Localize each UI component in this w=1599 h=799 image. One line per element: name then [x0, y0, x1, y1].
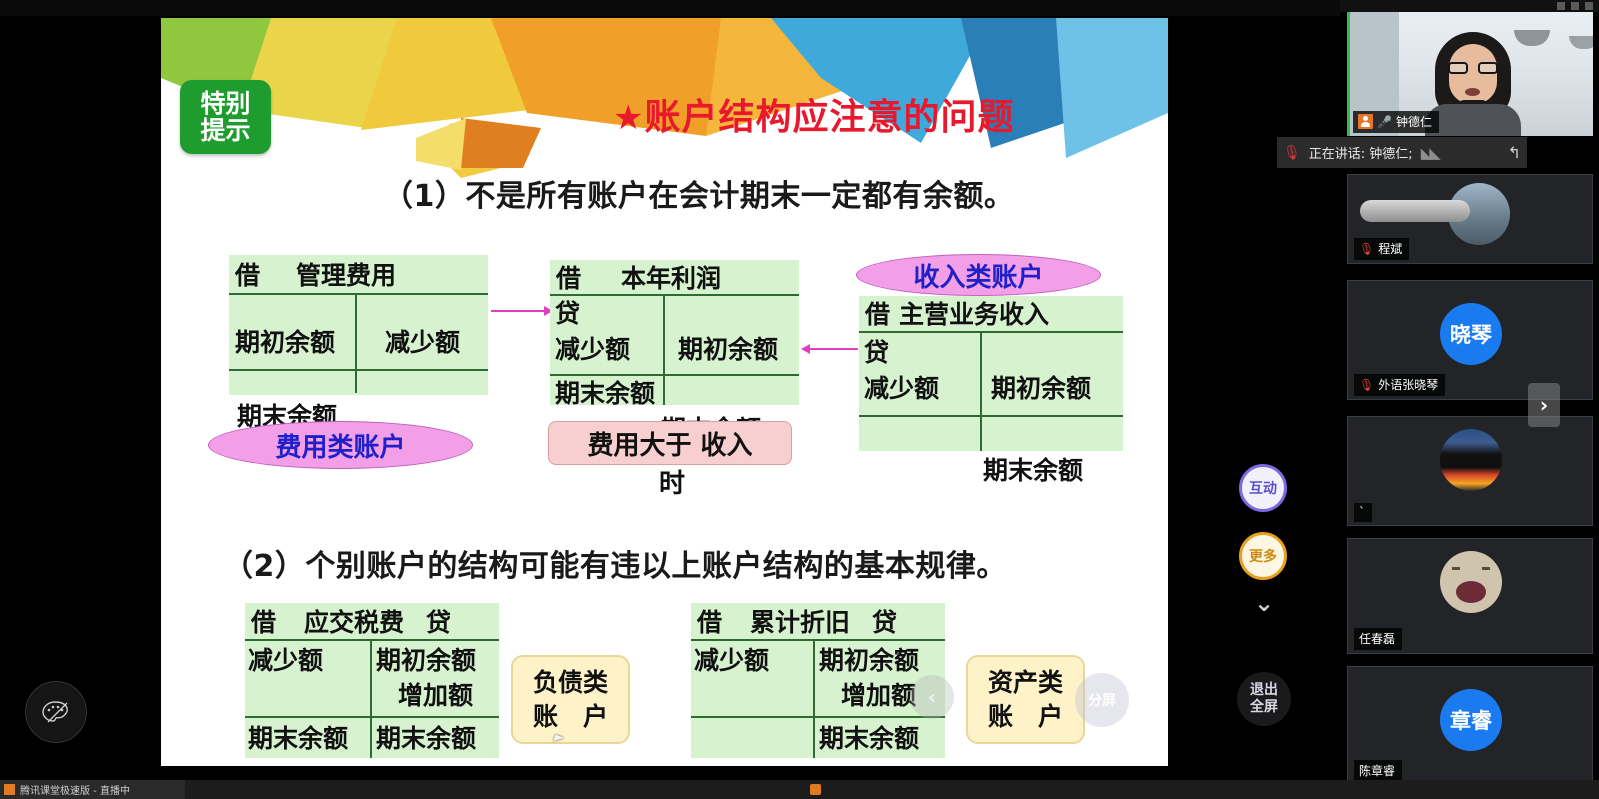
t5-body: 减少额 期初余额 增加额 期末余额 [691, 641, 945, 758]
t1-right-cell: 减少额 [385, 323, 460, 359]
asset-line-1: 资产类 [988, 666, 1063, 700]
exit-fullscreen-button[interactable]: 退出 全屏 [1237, 672, 1291, 726]
reply-arrow-icon[interactable]: ↰ [1508, 143, 1521, 162]
video-person [1425, 32, 1521, 136]
slide-title-text: 账户结构应注意的问题 [644, 97, 1014, 138]
t4-right-cell-1: 期初余额 [376, 641, 476, 677]
avatar-initials-2: 晓琴 [1450, 319, 1492, 349]
participant-tile-1[interactable]: 🎙 程斌 [1347, 174, 1593, 264]
callout-expense-gt-income: 费用大于 收入 [548, 421, 792, 465]
t2-header: 借 本年利润 [550, 260, 799, 296]
screen-root: 特别 提示 ★账户结构应注意的问题 （1）不是所有账户在会计期末一定都有余额。 … [0, 0, 1599, 799]
slide-title: ★账户结构应注意的问题 [613, 88, 1015, 140]
taskbar-app-label: 腾讯课堂极速版 - 直播中 [20, 782, 130, 797]
host-badge-icon [1358, 114, 1373, 129]
t3-ending-balance: 期末余额 [983, 451, 1083, 487]
participant-tile-2[interactable]: 晓琴 🎙 外语张晓琴 [1347, 280, 1593, 400]
participant-label-5: 陈章睿 [1359, 762, 1395, 779]
interact-button[interactable]: 互动 [1239, 464, 1287, 512]
t5-debit-label: 借 [697, 603, 722, 639]
t5-right-cell-2: 增加额 [841, 676, 916, 712]
t4-debit-label: 借 [251, 603, 276, 639]
t2-credit-mark: 贷 [555, 294, 580, 330]
participant-tile-0[interactable]: 🎤 钟德仁 [1347, 12, 1593, 136]
avatar-initials-5: 章睿 [1450, 705, 1492, 735]
more-button[interactable]: 更多 [1239, 532, 1287, 580]
participant-label-2: 外语张晓琴 [1378, 376, 1438, 393]
t2-left-total: 期末余额 [555, 374, 655, 410]
microphone-muted-icon: 🎙 [1359, 243, 1374, 255]
t-account-bennian-lirun: 借 本年利润 贷 减少额 期初余额 期末余额 [550, 260, 799, 405]
t4-credit-label: 贷 [426, 603, 451, 639]
minimize-icon[interactable] [1557, 2, 1565, 10]
chevron-down-icon[interactable]: ⌄ [1248, 590, 1280, 616]
callout-expense-accounts: 费用类账户 [208, 421, 473, 469]
participant-tile-3[interactable]: ` [1347, 416, 1593, 526]
t1-body: 期初余额 减少额 [229, 295, 488, 393]
callout-income-accounts: 收入类账户 [856, 254, 1101, 296]
avatar-overlay-bar [1360, 200, 1470, 222]
split-screen-button[interactable]: 分屏 [1075, 673, 1129, 727]
palette-icon[interactable] [25, 681, 87, 743]
t1-account-name: 管理费用 [296, 256, 396, 292]
t5-credit-label: 贷 [872, 603, 897, 639]
t-account-yingjiao-shuifei: 借 应交税费 贷 减少额 期初余额 增加额 期末余额 期末余额 [245, 603, 499, 758]
app-icon [4, 784, 15, 795]
participant-tile-5[interactable]: 章睿 陈章睿 [1347, 666, 1593, 786]
participant-avatar-5: 章睿 [1440, 689, 1502, 751]
t2-account-name: 本年利润 [621, 259, 721, 295]
t-account-zhuying-yewu-shouru: 借 主营业务收入 贷 减少额 期初余额 [859, 296, 1123, 451]
taskbar-app-item[interactable]: 腾讯课堂极速版 - 直播中 [0, 780, 185, 799]
participant-name-3: ` [1354, 503, 1372, 522]
t4-header: 借 应交税费 贷 [245, 603, 499, 641]
t5-header: 借 累计折旧 贷 [691, 603, 945, 641]
t4-left-total: 期末余额 [248, 719, 348, 755]
participant-name-2: 🎙 外语张晓琴 [1354, 374, 1445, 396]
t5-divider [813, 641, 815, 758]
exit-line-1: 退出 [1250, 682, 1278, 700]
t2-body: 贷 减少额 期初余额 期末余额 [550, 296, 799, 405]
taskbar-tray-icon[interactable] [810, 784, 821, 795]
speaking-status-label: 正在讲话: 钟德仁; [1309, 143, 1413, 162]
badge-line-1: 特别 [200, 90, 250, 117]
presentation-slide[interactable]: 特别 提示 ★账户结构应注意的问题 （1）不是所有账户在会计期末一定都有余额。 … [161, 18, 1168, 766]
t4-left-cell: 减少额 [248, 641, 323, 677]
special-tip-badge: 特别 提示 [180, 80, 271, 154]
t3-left-cell: 减少额 [864, 369, 939, 405]
microphone-muted-icon: 🎙 [1359, 379, 1374, 391]
participant-label-4: 任春磊 [1359, 630, 1395, 647]
statement-1: （1）不是所有账户在会计期末一定都有余额。 [383, 171, 1014, 215]
t3-right-cell: 期初余额 [991, 369, 1091, 405]
callout-liability-accounts: 负债类 账 户 [511, 655, 630, 744]
t4-divider [370, 641, 372, 758]
participant-label-0: 钟德仁 [1396, 113, 1432, 130]
top-strip [0, 0, 1340, 16]
participant-avatar-2: 晓琴 [1440, 303, 1502, 365]
t-account-leiji-zhejiu: 借 累计折旧 贷 减少额 期初余额 增加额 期末余额 [691, 603, 945, 758]
speaking-indicator-bar [1347, 12, 1350, 136]
microphone-icon: 🎤 [1377, 115, 1392, 129]
callout-expense-gt-income-tail: 时 [659, 463, 685, 500]
t1-left-cell: 期初余额 [235, 323, 335, 359]
arrow-1-line [491, 310, 546, 312]
arrow-2-line [806, 348, 858, 350]
exit-line-2: 全屏 [1250, 699, 1278, 717]
t1-header: 借 管理费用 [229, 255, 488, 295]
star-icon: ★ [613, 98, 644, 138]
t2-left-cell: 减少额 [555, 330, 630, 366]
t4-body: 减少额 期初余额 增加额 期末余额 期末余额 [245, 641, 499, 758]
asset-line-2: 账 户 [988, 700, 1063, 734]
participant-name-1: 🎙 程斌 [1354, 238, 1409, 260]
t5-total-line [691, 716, 945, 718]
t3-account-name: 主营业务收入 [899, 295, 1049, 331]
t5-right-cell-1: 期初余额 [819, 641, 919, 677]
liability-line-2: 账 户 [533, 700, 608, 734]
participant-name-5: 陈章睿 [1354, 760, 1402, 782]
t1-total-line [229, 369, 488, 371]
t5-right-total: 期末余额 [819, 719, 919, 755]
t3-divider [980, 333, 982, 451]
participant-label-3: ` [1359, 505, 1365, 519]
t5-left-cell: 减少额 [694, 641, 769, 677]
microphone-muted-icon: 🎙 [1283, 145, 1301, 161]
t2-right-cell: 期初余额 [678, 330, 778, 366]
close-icon[interactable] [1585, 2, 1593, 10]
participant-name-4: 任春磊 [1354, 628, 1402, 650]
t3-debit-label: 借 [865, 295, 890, 331]
t5-account-name: 累计折旧 [750, 603, 850, 639]
t3-total-line [859, 415, 1123, 417]
t4-right-cell-2: 增加额 [398, 676, 473, 712]
t2-divider [663, 296, 665, 405]
participant-name-0: 🎤 钟德仁 [1353, 111, 1439, 133]
callout-asset-accounts: 资产类 账 户 [966, 655, 1085, 744]
participant-avatar-3 [1440, 429, 1502, 491]
chevron-left-icon[interactable]: ‹ [910, 675, 954, 719]
double-chevron-icon[interactable]: ◣◣ [1421, 144, 1438, 162]
badge-line-2: 提示 [200, 117, 250, 144]
t4-total-line [245, 716, 499, 718]
maximize-icon[interactable] [1571, 2, 1579, 10]
t3-credit-mark: 贷 [864, 333, 889, 369]
taskbar[interactable]: 腾讯课堂极速版 - 直播中 [0, 780, 1599, 799]
window-controls[interactable] [1557, 0, 1593, 12]
participant-tile-4[interactable]: 任春磊 [1347, 538, 1593, 654]
t2-debit-label: 借 [556, 259, 581, 295]
participant-avatar-4 [1440, 551, 1502, 613]
top-strip-right [1340, 0, 1599, 12]
participant-label-1: 程斌 [1378, 240, 1402, 257]
arrow-2-head [801, 344, 810, 354]
speaking-status-bar[interactable]: 🎙 正在讲话: 钟德仁; ◣◣ ↰ [1277, 137, 1527, 168]
t3-body: 贷 减少额 期初余额 [859, 333, 1123, 451]
t4-right-total: 期末余额 [376, 719, 476, 755]
t1-debit-label: 借 [235, 256, 260, 292]
t1-divider [355, 295, 357, 393]
t3-header: 借 主营业务收入 [859, 296, 1123, 333]
t4-account-name: 应交税费 [304, 603, 404, 639]
t-account-guanli-feiyong: 借 管理费用 期初余额 减少额 [229, 255, 488, 395]
liability-line-1: 负债类 [533, 666, 608, 700]
chevron-right-icon[interactable]: › [1528, 383, 1560, 427]
statement-2: （2）个别账户的结构可能有违以上账户结构的基本规律。 [223, 541, 1007, 585]
participant-panel[interactable]: 🎤 钟德仁 🎙 正在讲话: 钟德仁; ◣◣ ↰ 🎙 程斌 晓琴 [1341, 12, 1599, 787]
